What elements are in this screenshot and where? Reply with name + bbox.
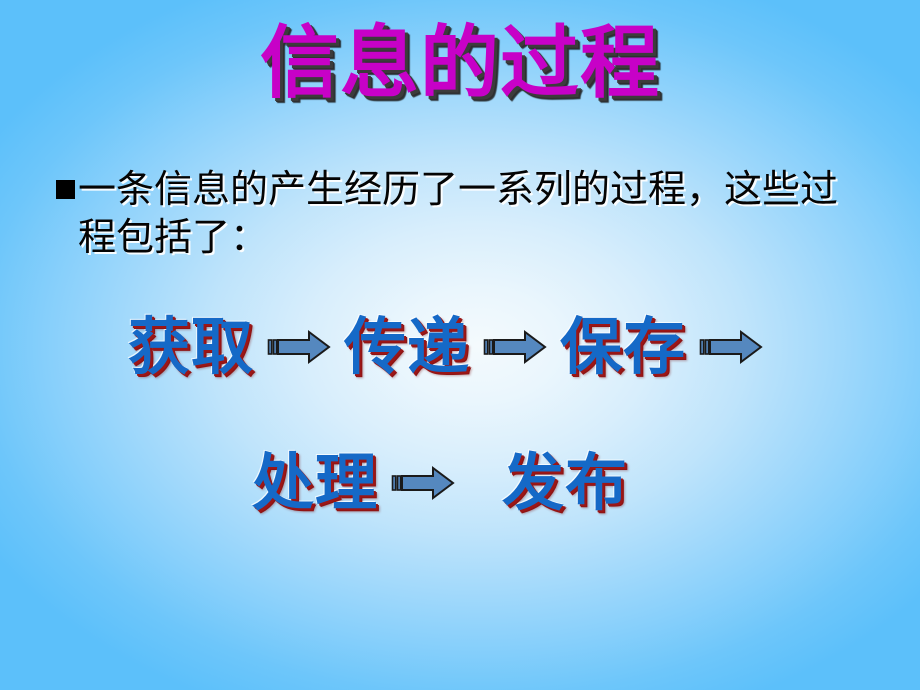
page-title: 信息的过程 <box>260 22 660 106</box>
process-flow-row-1: 获取 传递 保存 <box>128 316 776 378</box>
striped-right-arrow-icon-3 <box>698 327 764 367</box>
process-flow-row-2: 处理 发布 <box>252 452 628 514</box>
process-step-transmit: 传递 <box>344 316 470 378</box>
bullet-item-text: 一条信息的产生经历了一系列的过程，这些过程包括了： <box>78 166 866 263</box>
striped-right-arrow-icon-4 <box>390 463 456 503</box>
striped-right-arrow-icon-2 <box>482 327 548 367</box>
body-content-block: 一条信息的产生经历了一系列的过程，这些过程包括了： <box>56 166 866 263</box>
striped-right-arrow-icon-1 <box>266 327 332 367</box>
process-step-process: 处理 <box>252 452 378 514</box>
slide-canvas: 信息的过程 一条信息的产生经历了一系列的过程，这些过程包括了： 获取 传递 保存 <box>0 0 920 690</box>
slide-title-block: 信息的过程 <box>0 22 920 106</box>
process-step-store: 保存 <box>560 316 686 378</box>
process-step-publish: 发布 <box>502 452 628 514</box>
process-step-acquire: 获取 <box>128 316 254 378</box>
square-bullet-icon <box>56 180 75 199</box>
bullet-list-item: 一条信息的产生经历了一系列的过程，这些过程包括了： <box>56 166 866 263</box>
